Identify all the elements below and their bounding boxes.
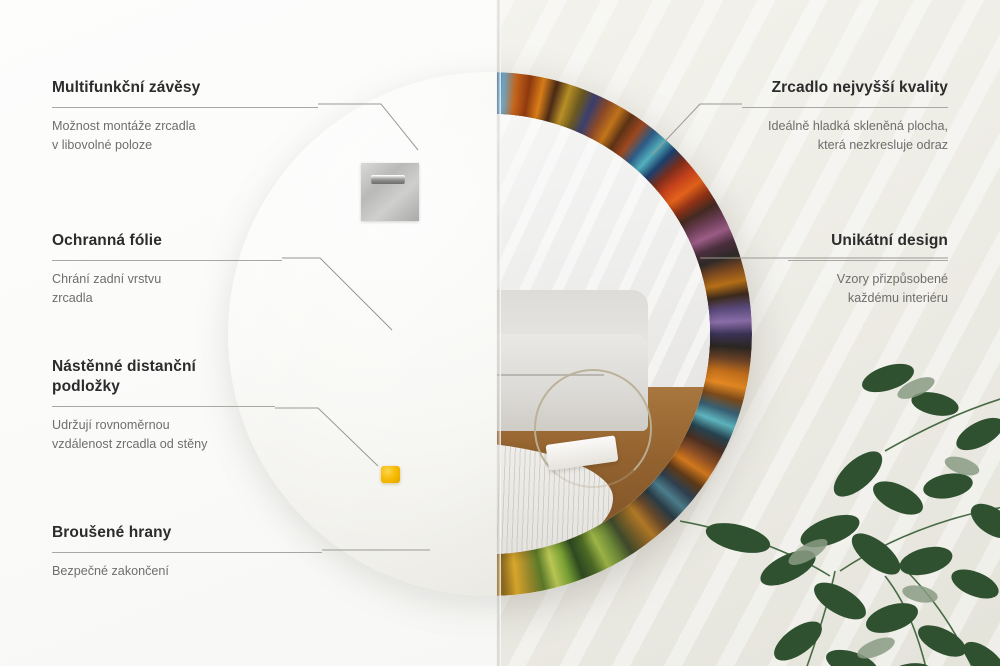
hanger-keyhole-slot <box>371 175 405 184</box>
hanger-plate <box>361 163 419 221</box>
callout-rule <box>52 406 275 407</box>
callout-body: Udržují rovnoměrnou vzdálenost zrcadla o… <box>52 416 275 454</box>
callout-unikatni-design: Unikátní design Vzory přizpůsobené každé… <box>788 231 948 308</box>
callout-body: Bezpečné zakončení <box>52 562 322 581</box>
callout-title: Unikátní design <box>788 231 948 251</box>
mirror-glass <box>497 114 710 554</box>
callout-rule <box>742 107 948 108</box>
spacer-pad <box>381 466 400 483</box>
callout-body: Ideálně hladká skleněná plocha, která ne… <box>742 117 948 155</box>
callout-rule <box>52 107 318 108</box>
callout-rule <box>52 552 322 553</box>
callout-title: Zrcadlo nejvyšší kvality <box>742 78 948 98</box>
callout-title: Ochranná fólie <box>52 231 282 251</box>
callout-multifunkcni-zavesy: Multifunkční závěsy Možnost montáže zrca… <box>52 78 318 155</box>
callout-brousene-hrany: Broušené hrany Bezpečné zakončení <box>52 523 322 581</box>
foliage-branch-decoration <box>680 356 1000 666</box>
callout-title: Multifunkční závěsy <box>52 78 318 98</box>
callout-rule <box>52 260 282 261</box>
callout-rule <box>788 260 948 261</box>
callout-title: Nástěnné distanční podložky <box>52 357 275 397</box>
callout-nastenne-distancni-podlozky: Nástěnné distanční podložky Udržují rovn… <box>52 357 275 454</box>
callout-ochranna-folie: Ochranná fólie Chrání zadní vrstvu zrcad… <box>52 231 282 308</box>
callout-title: Broušené hrany <box>52 523 322 543</box>
callout-zrcadlo-nejvyssi-kvality: Zrcadlo nejvyšší kvality Ideálně hladká … <box>742 78 948 155</box>
panel-divider <box>496 0 501 666</box>
callout-body: Možnost montáže zrcadla v libovolné polo… <box>52 117 318 155</box>
infographic-stage: Multifunkční závěsy Možnost montáže zrca… <box>0 0 1000 666</box>
callout-body: Chrání zadní vrstvu zrcadla <box>52 270 282 308</box>
callout-body: Vzory přizpůsobené každému interiéru <box>788 270 948 308</box>
